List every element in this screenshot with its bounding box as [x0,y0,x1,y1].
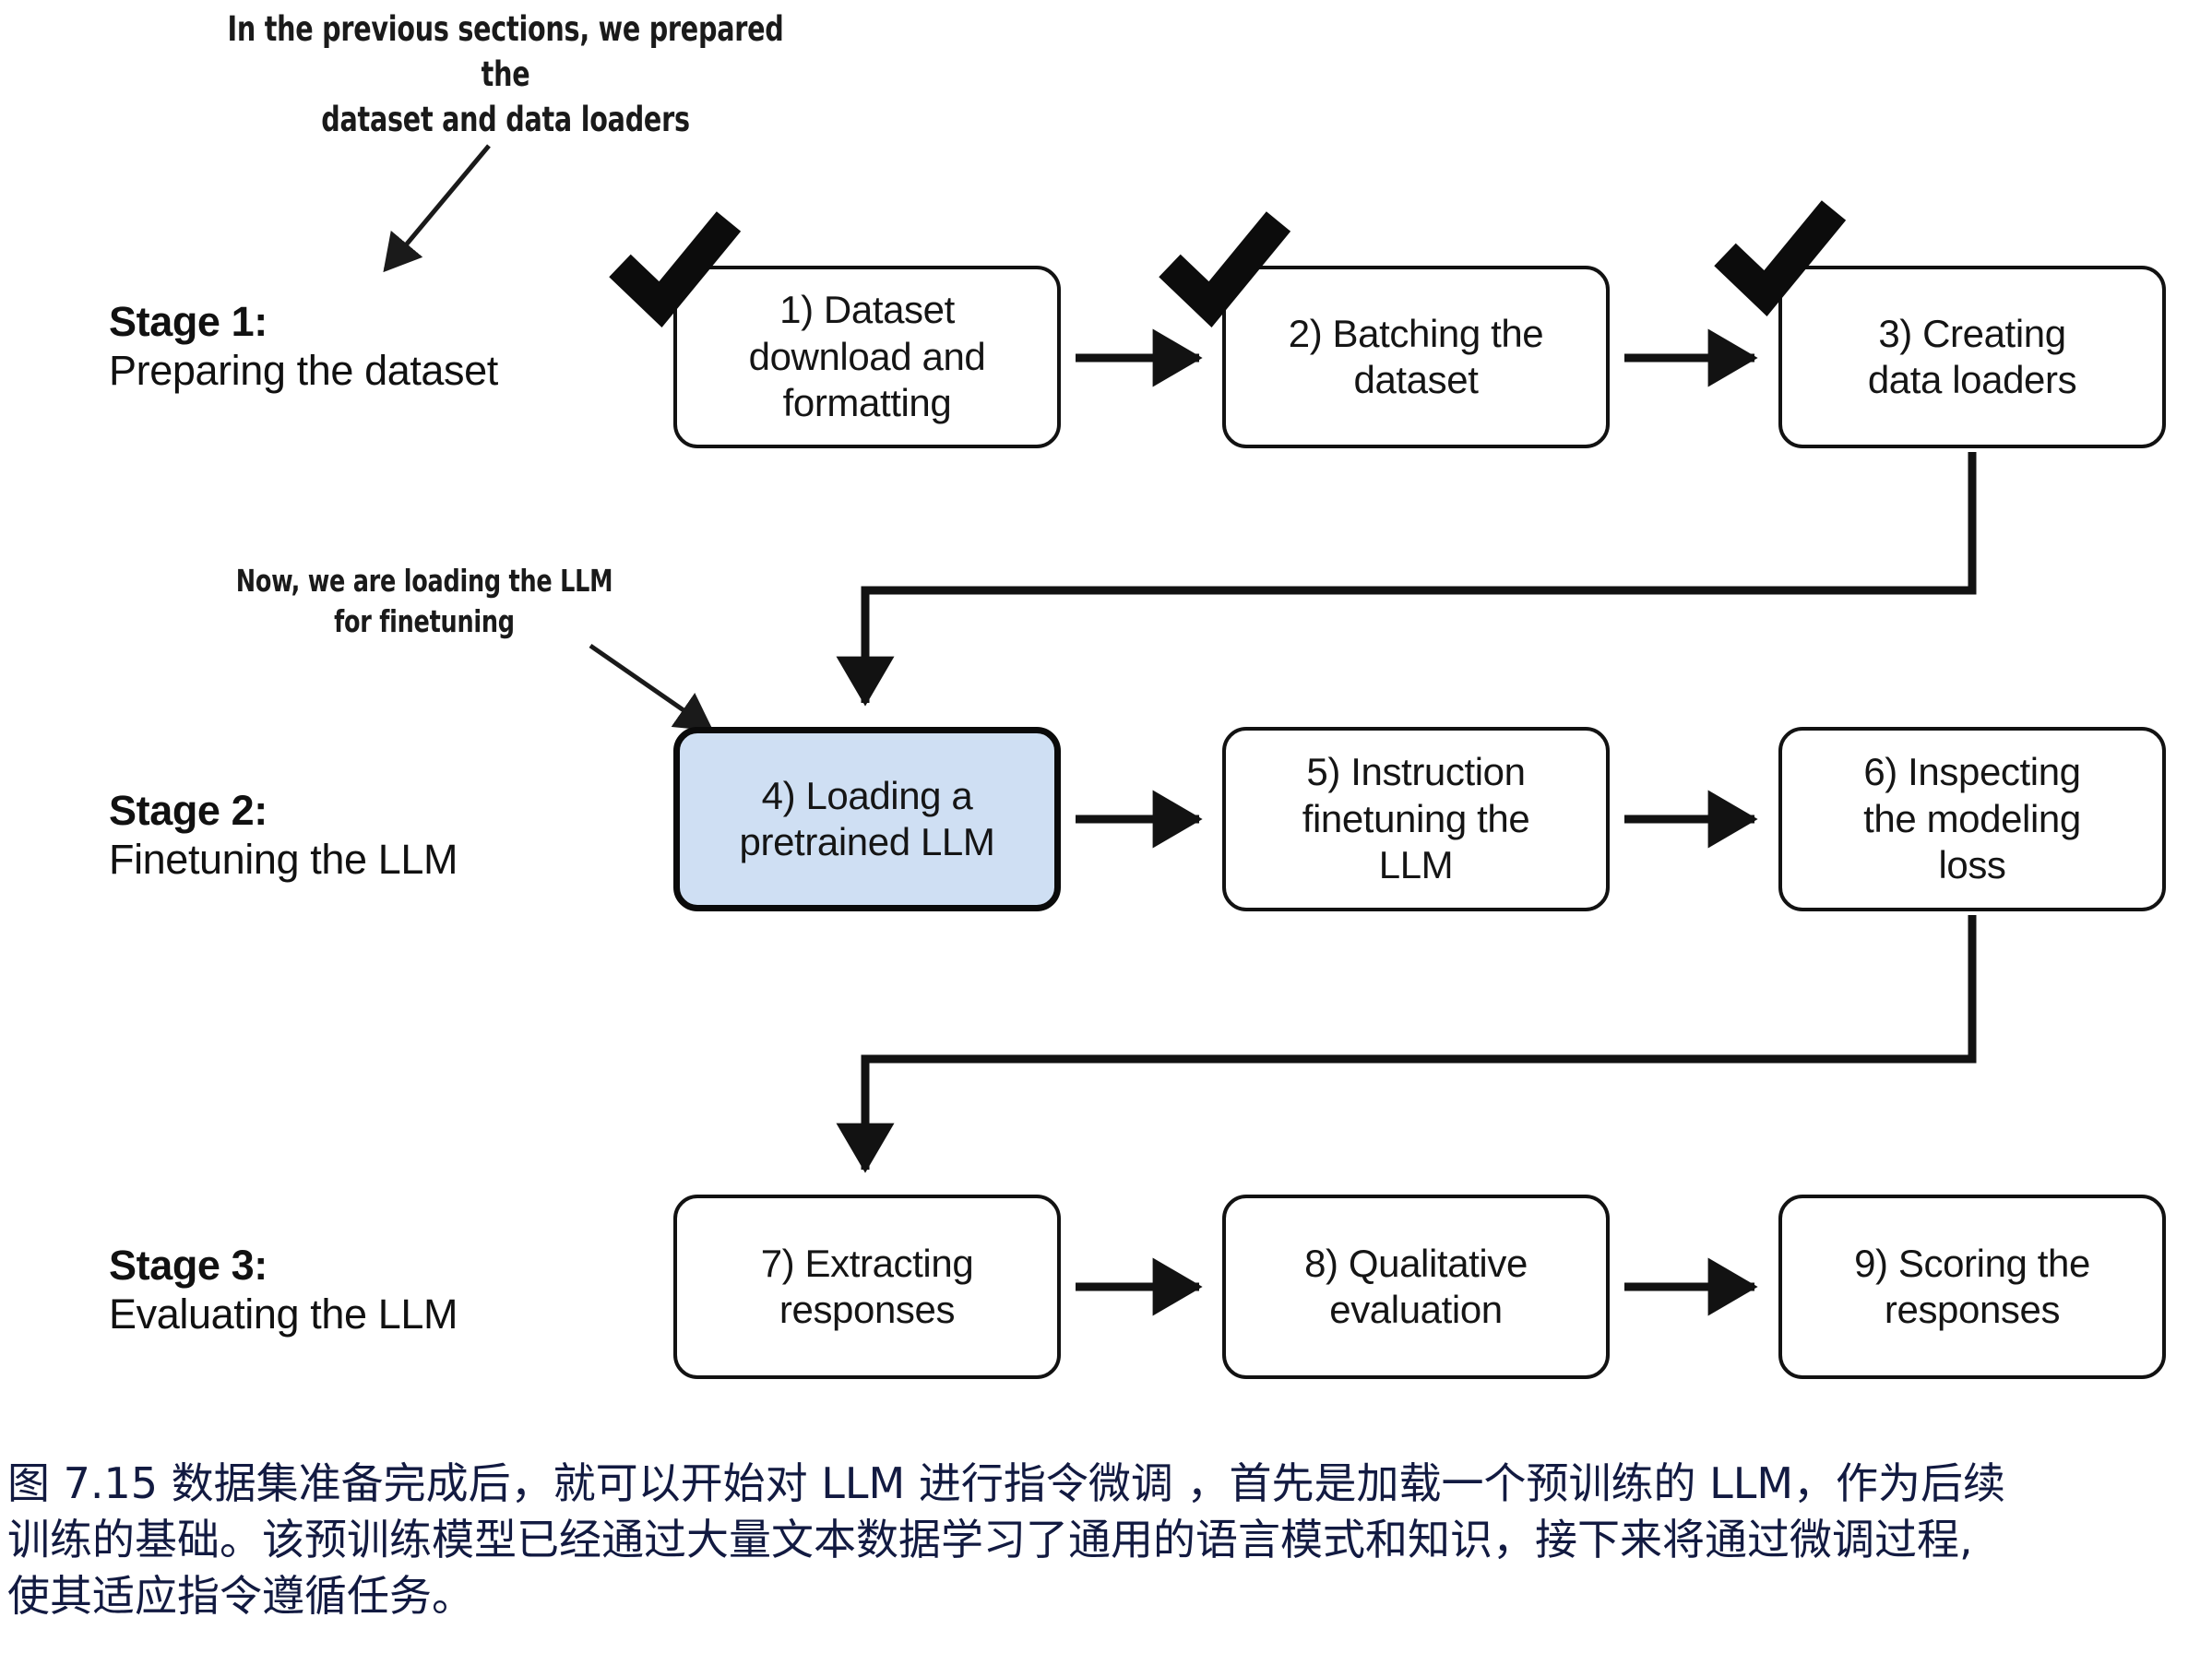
annotation-line: for finetuning [334,603,515,639]
node-line: LLM [1379,843,1454,886]
caption-line: 图 7.15 数据集准备完成后，就可以开始对 LLM 进行指令微调 ，首先是加载… [7,1456,2208,1512]
node-line: 1) Dataset [779,288,955,331]
node-line: responses [1885,1288,2060,1331]
annotation-line: Now, we are loading the LLM [236,563,613,599]
node-line: 2) Batching the [1289,312,1544,355]
node-line: 7) Extracting [761,1242,974,1285]
node-line: download and [749,335,986,378]
node-line: 5) Instruction [1306,750,1525,793]
flow-node-9[interactable]: 9) Scoring the responses [1778,1195,2166,1379]
flow-node-label: 9) Scoring the responses [1854,1241,2090,1334]
node-line: evaluation [1329,1288,1502,1331]
node-line: 9) Scoring the [1854,1242,2090,1285]
flow-node-label: 7) Extracting responses [761,1241,974,1334]
node-line: data loaders [1868,358,2076,401]
flow-node-label: 3) Creating data loaders [1868,311,2076,404]
flow-node-label: 4) Loading a pretrained LLM [740,773,995,866]
flow-node-4[interactable]: 4) Loading a pretrained LLM [673,727,1061,911]
annotation-loading-llm: Now, we are loading the LLM for finetuni… [186,561,662,641]
flow-node-label: 8) Qualitative evaluation [1304,1241,1528,1334]
stage-title: Stage 1: [109,297,498,346]
flow-node-8[interactable]: 8) Qualitative evaluation [1222,1195,1610,1379]
node-line: responses [779,1288,955,1331]
flow-node-label: 5) Instruction finetuning the LLM [1302,749,1530,888]
pointer-arrow-annotation-2 [590,646,710,729]
flow-node-1[interactable]: 1) Dataset download and formatting [673,266,1061,448]
node-line: 4) Loading a [762,774,973,817]
pointer-arrow-annotation-1 [386,146,489,269]
stage-label-3: Stage 3: Evaluating the LLM [109,1241,458,1338]
annotation-previous-sections: In the previous sections, we prepared th… [204,7,807,142]
flow-node-7[interactable]: 7) Extracting responses [673,1195,1061,1379]
flow-node-label: 6) Inspecting the modeling loss [1863,749,2081,888]
figure-canvas: In the previous sections, we prepared th… [0,0,2212,1677]
stage-label-1: Stage 1: Preparing the dataset [109,297,498,395]
figure-caption: 图 7.15 数据集准备完成后，就可以开始对 LLM 进行指令微调 ，首先是加载… [7,1456,2208,1625]
flow-node-3[interactable]: 3) Creating data loaders [1778,266,2166,448]
node-line: pretrained LLM [740,820,995,863]
stage-subtitle: Finetuning the LLM [109,835,458,884]
annotation-line: In the previous sections, we prepared th… [227,9,783,94]
flow-node-5[interactable]: 5) Instruction finetuning the LLM [1222,727,1610,911]
node-line: the modeling [1863,797,2081,840]
stage-title: Stage 3: [109,1241,458,1290]
node-line: loss [1938,843,2005,886]
caption-line: 使其适应指令遵循任务。 [7,1568,2208,1624]
flow-node-6[interactable]: 6) Inspecting the modeling loss [1778,727,2166,911]
node-line: 8) Qualitative [1304,1242,1528,1285]
node-line: finetuning the [1302,797,1530,840]
node-line: formatting [783,381,952,424]
node-line: dataset [1354,358,1479,401]
node-line: 6) Inspecting [1863,750,2080,793]
flow-node-2[interactable]: 2) Batching the dataset [1222,266,1610,448]
node-line: 3) Creating [1878,312,2065,355]
connector-6-to-7 [865,915,1972,1170]
stage-label-2: Stage 2: Finetuning the LLM [109,786,458,884]
connector-3-to-4 [865,452,1972,703]
stage-subtitle: Evaluating the LLM [109,1290,458,1338]
flow-node-label: 1) Dataset download and formatting [749,287,986,426]
flow-node-label: 2) Batching the dataset [1289,311,1544,404]
stage-title: Stage 2: [109,786,458,835]
caption-line: 训练的基础。该预训练模型已经通过大量文本数据学习了通用的语言模式和知识，接下来将… [7,1512,2208,1568]
stage-subtitle: Preparing the dataset [109,346,498,395]
annotation-line: dataset and data loaders [321,100,690,139]
